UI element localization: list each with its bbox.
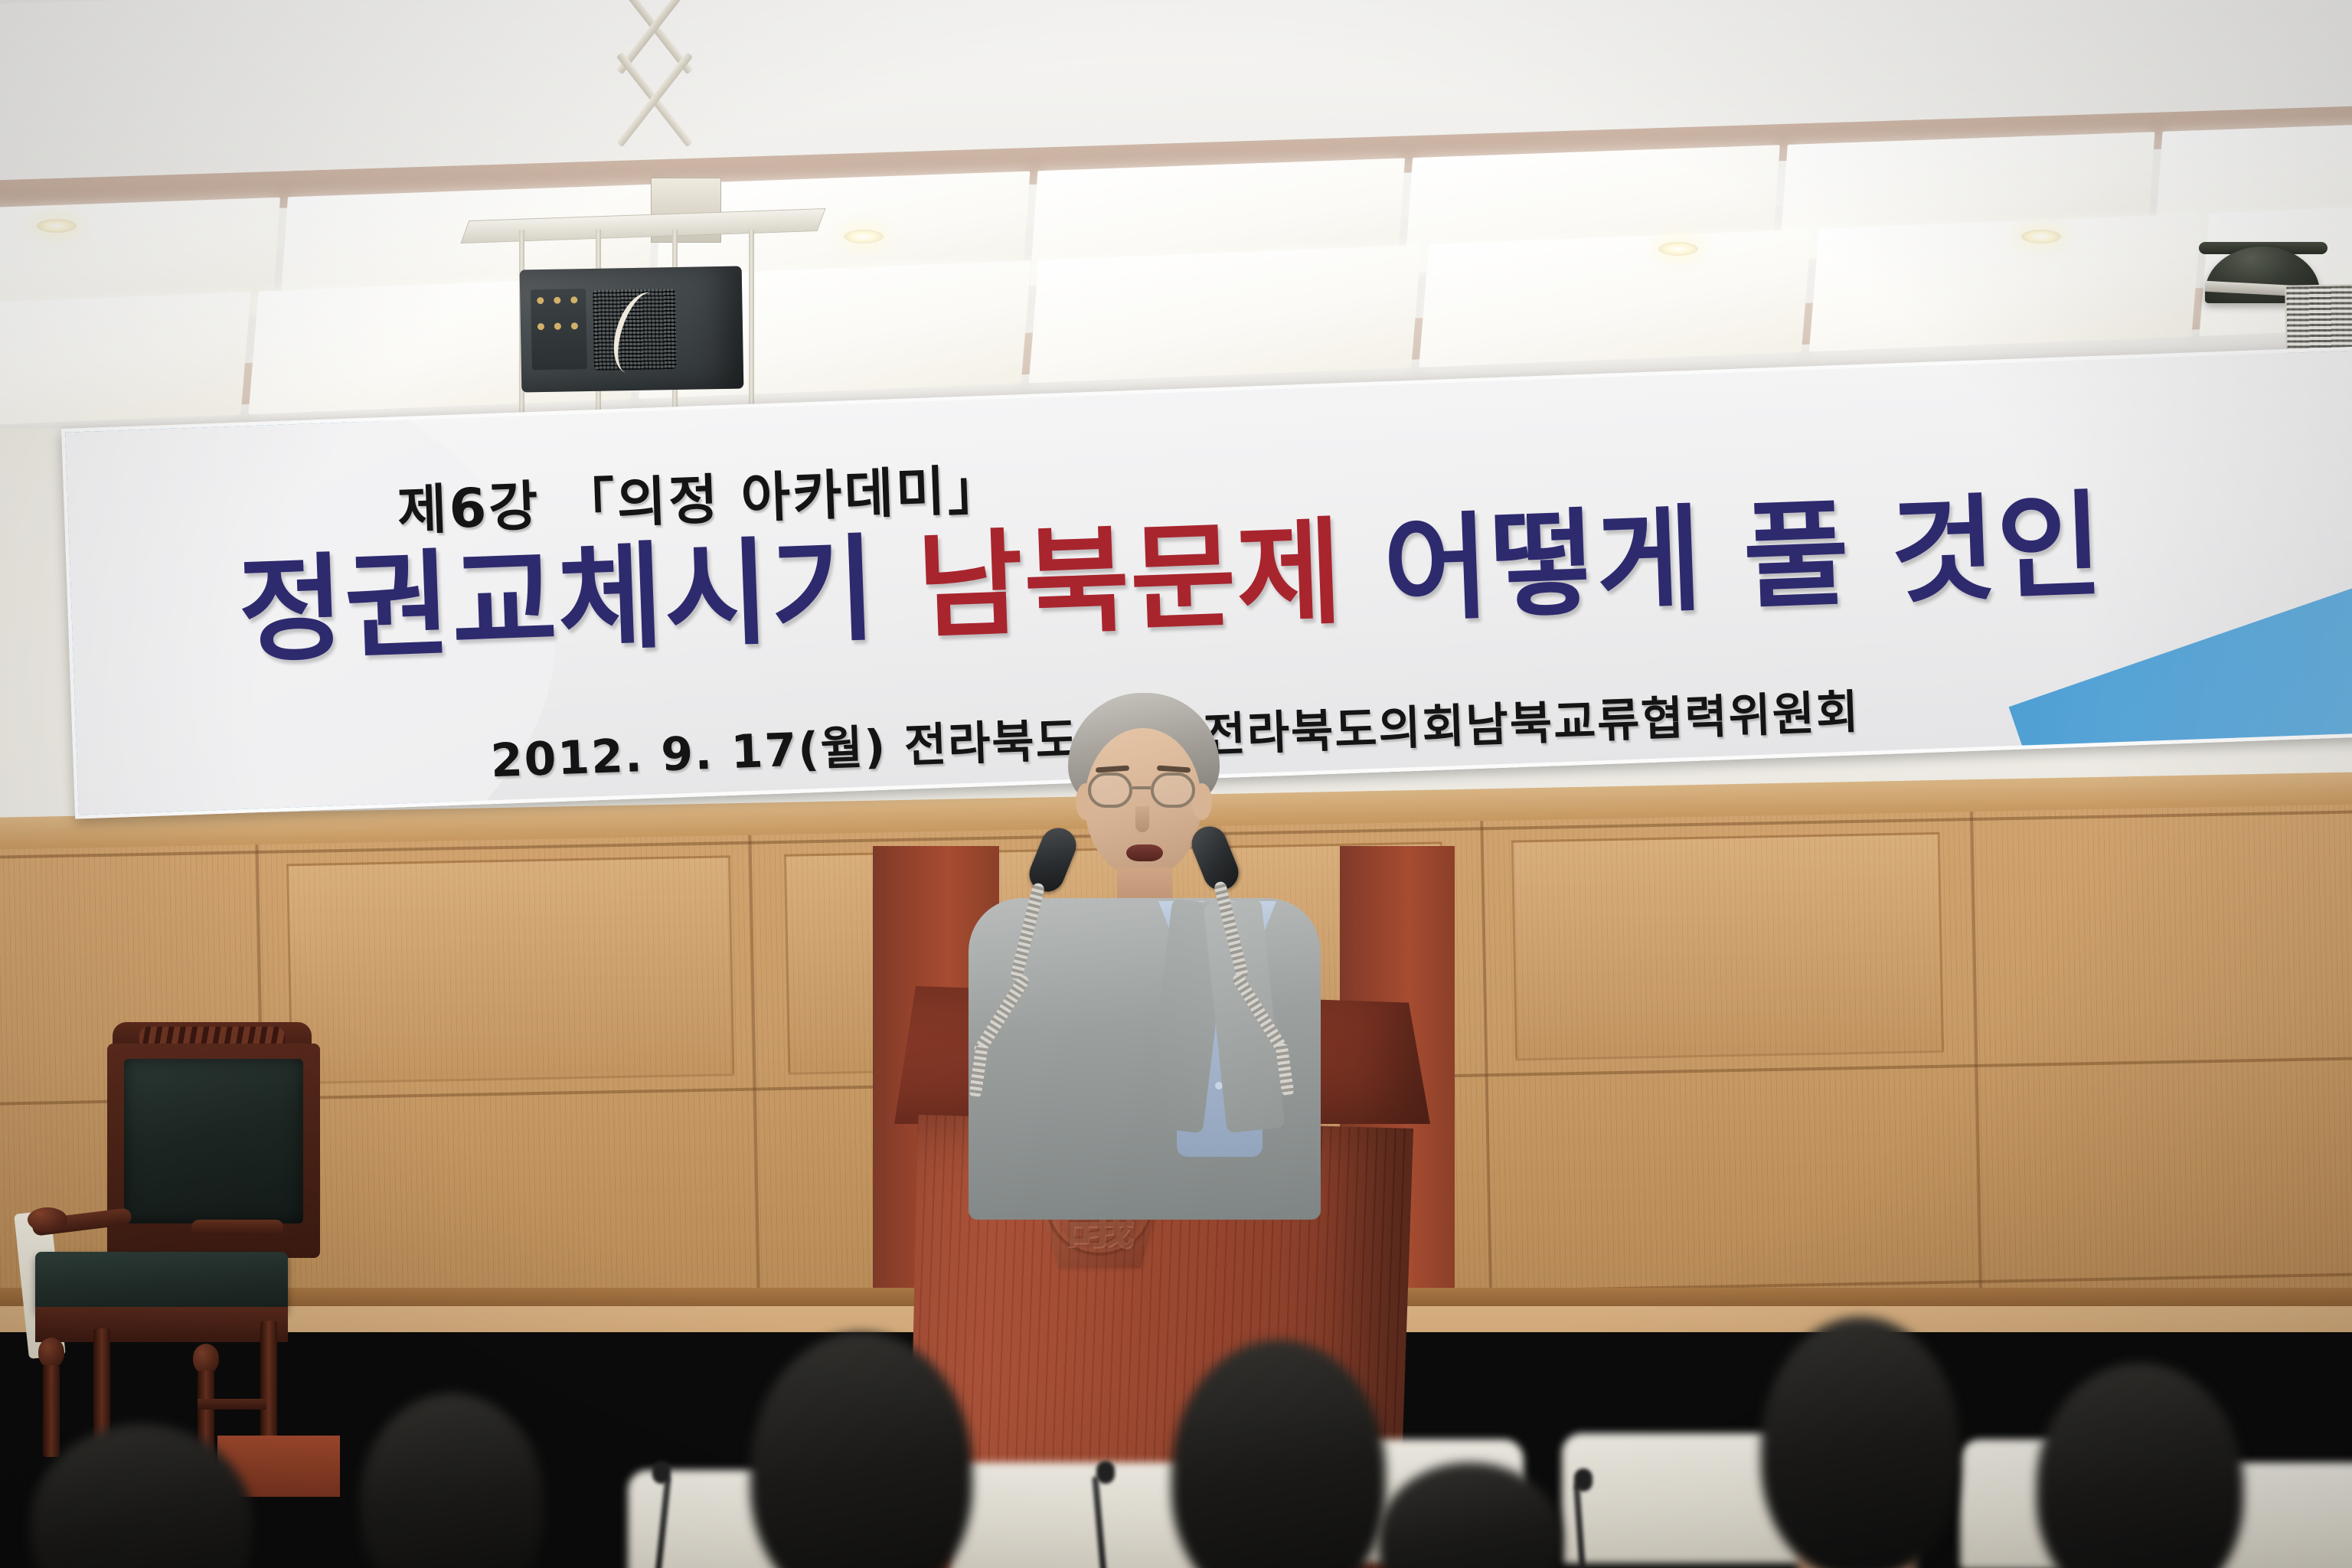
downlight-icon (1658, 242, 1698, 256)
light-panel-icon (0, 292, 251, 430)
audience-microphone-head (1574, 1468, 1592, 1491)
projector-port-panel (531, 289, 587, 370)
audience-head (1761, 1317, 1960, 1568)
downlight-icon (37, 219, 77, 233)
speaker-mouth (1126, 844, 1163, 861)
audience-head (2037, 1363, 2243, 1568)
headline-segment-highlight: 남북문제 (915, 506, 1345, 655)
light-panel-icon (1809, 214, 2202, 352)
audience-microphone-head (1096, 1461, 1115, 1484)
audience-foreground (0, 1210, 2352, 1568)
headline-segment-1: 정권교체시기 (237, 521, 920, 679)
audience-head (750, 1332, 972, 1568)
audience-head (1171, 1340, 1386, 1568)
downlight-icon (844, 230, 884, 243)
light-panel-icon (1419, 229, 1811, 367)
audience-head (31, 1424, 253, 1568)
chair-back-cushion (124, 1059, 303, 1223)
speaker-nose (1135, 806, 1149, 832)
conference-hall-photo: 제6강 「의정 아카데미」 정권교체시기 남북문제 어떻게 풀 것인 2012.… (0, 0, 2352, 1568)
wood-inset-panel (286, 855, 734, 1084)
eyeglasses-bridge (1132, 786, 1151, 789)
audience-microphone-head (652, 1461, 671, 1484)
eyeglasses-lens-left (1088, 773, 1132, 808)
headline-segment-2: 어떻게 풀 것인 (1341, 479, 2105, 639)
downlight-icon (2021, 230, 2061, 243)
wood-inset-panel (1511, 832, 1944, 1061)
projector-rod (749, 230, 754, 421)
light-panel-icon (1029, 245, 1422, 384)
eyeglasses-lens-right (1151, 773, 1195, 808)
audience-head (360, 1393, 544, 1568)
